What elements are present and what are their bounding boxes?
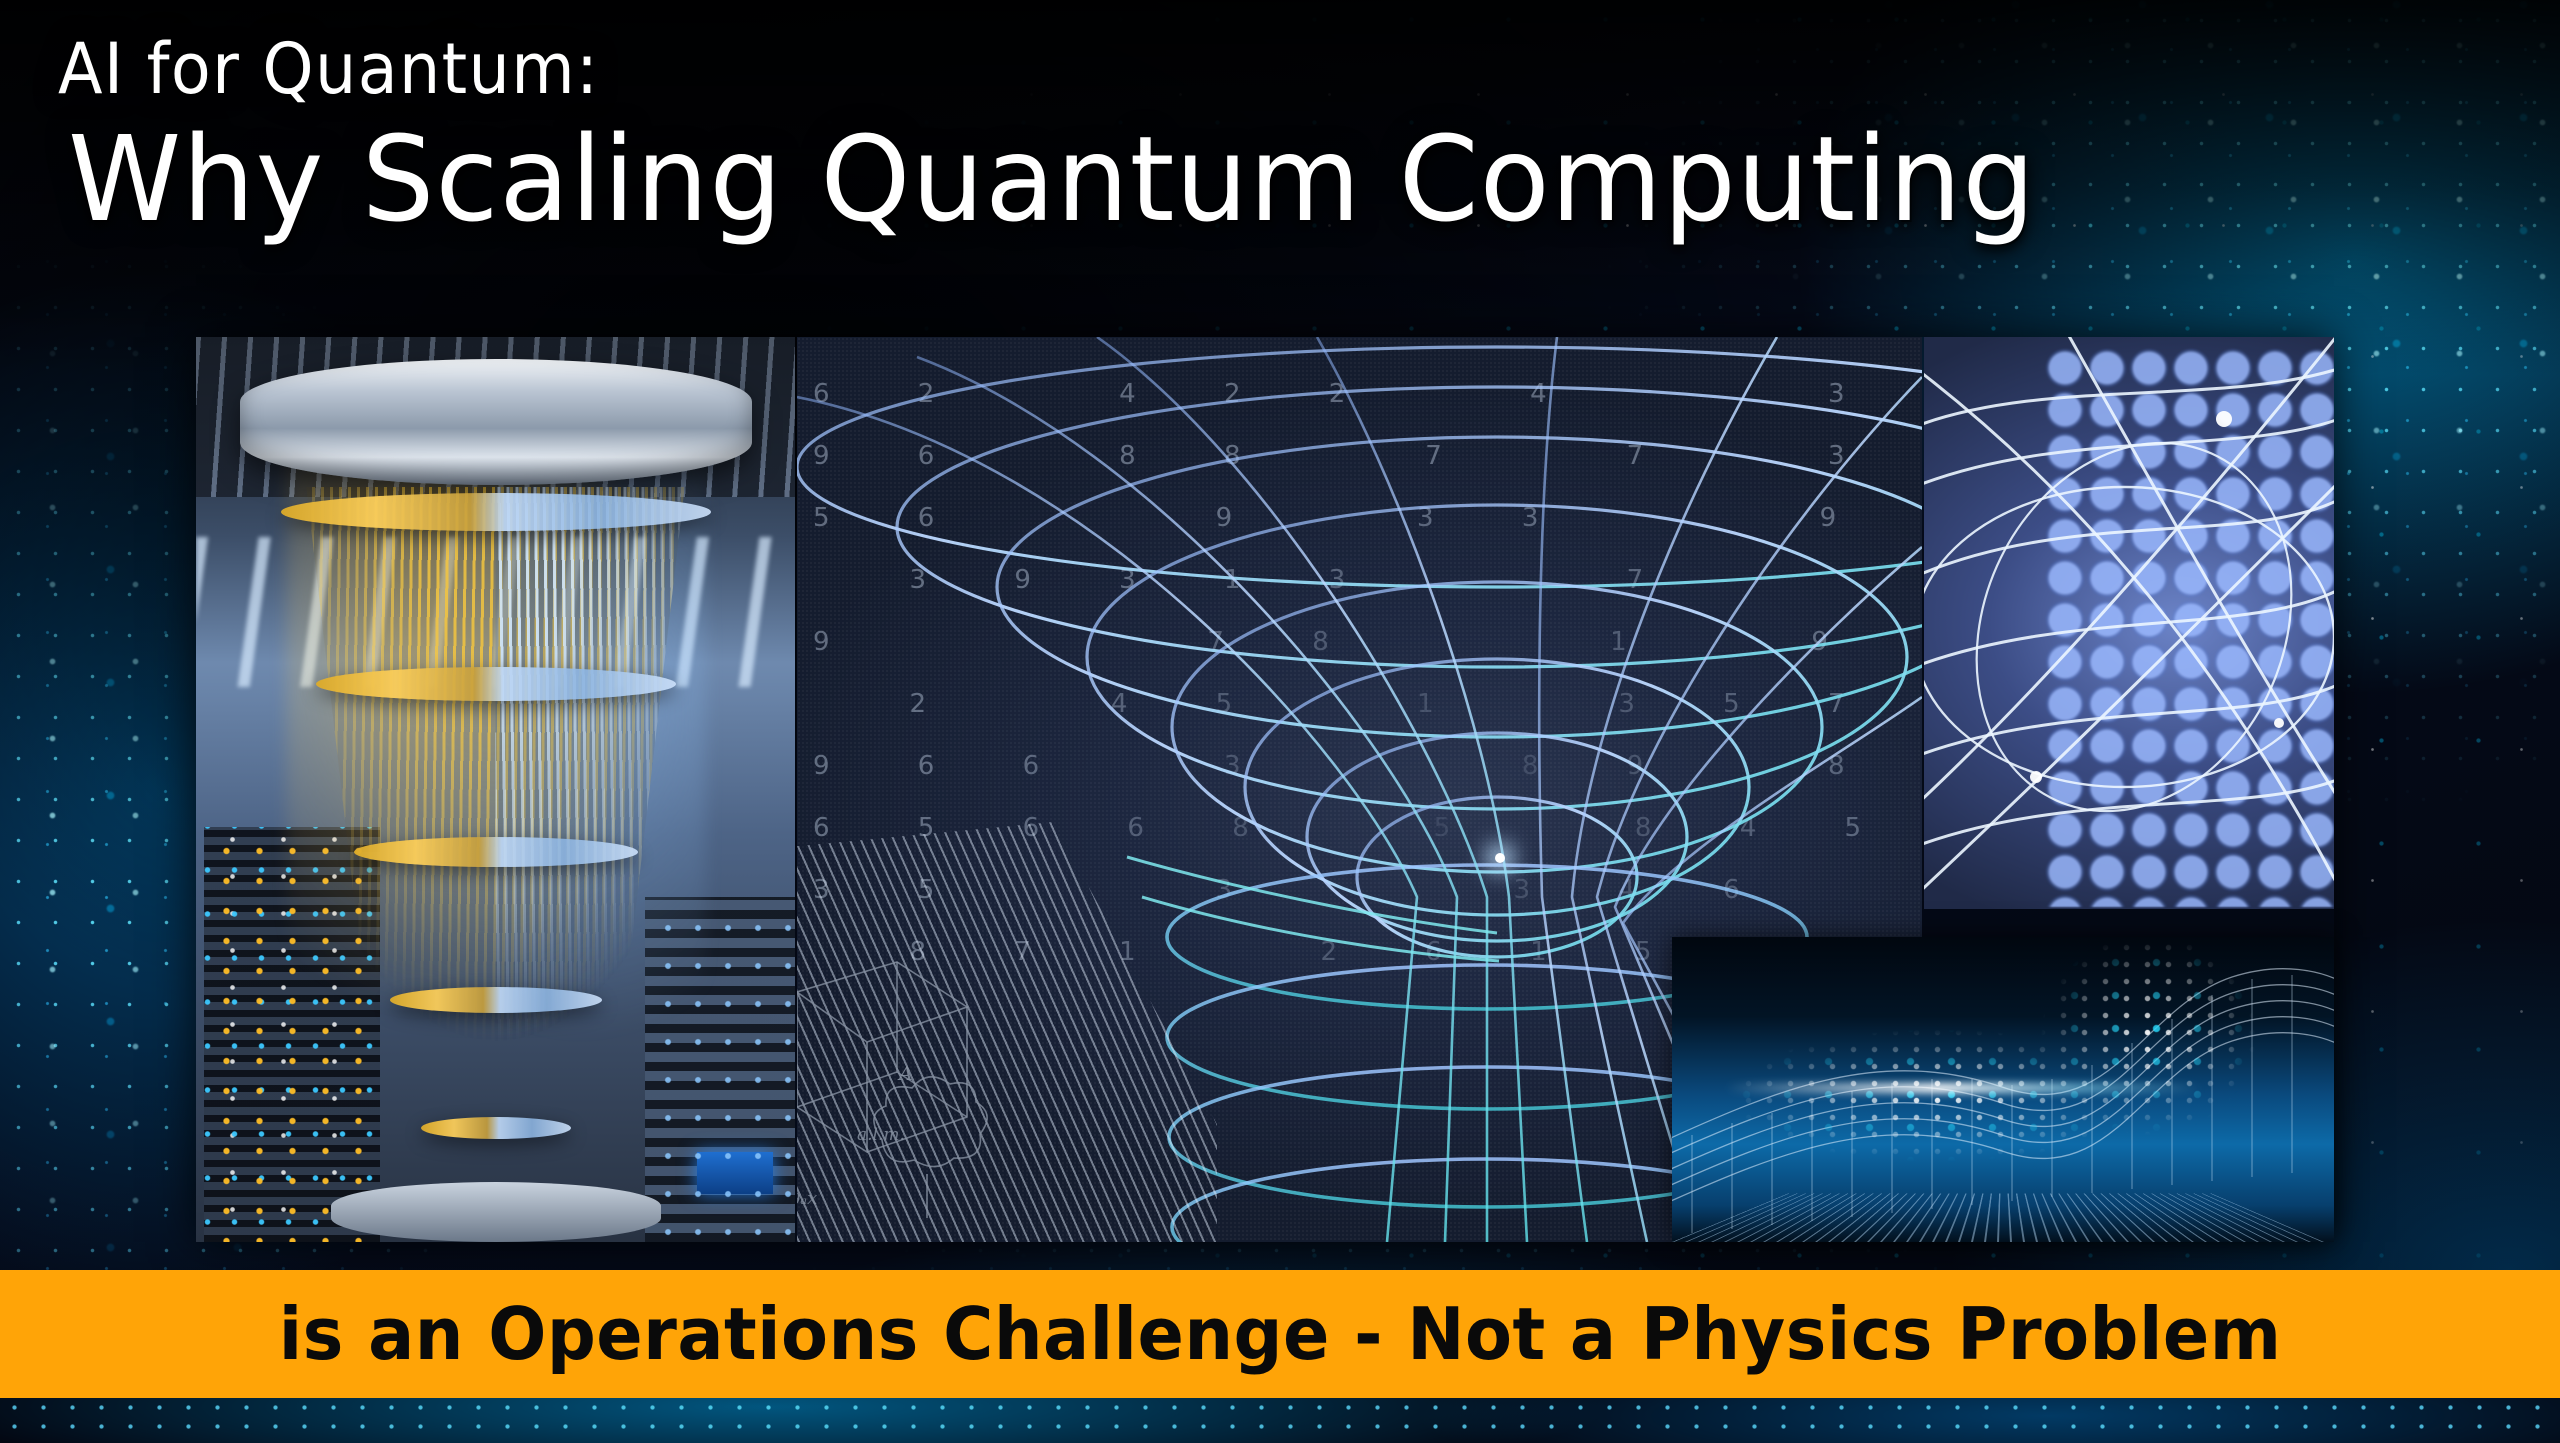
cryostat-stage-3 [354,837,638,867]
cryostat-stage-4 [390,987,602,1013]
cryostat-base-plate [331,1182,661,1242]
particle-wave-mesh [1672,937,2334,1242]
svg-text:∂ₐx: ∂ₐx [797,1188,817,1209]
trajectory-lines-icon [1924,337,2334,909]
bottom-background-strip [0,1398,2560,1443]
wave-core-glow [1725,1083,2202,1093]
vortex-light-point [1495,853,1505,863]
dilution-refrigerator-photo [196,337,795,1242]
cryostat-top-plate [240,359,752,485]
cryostat-stage-2 [316,667,676,701]
blueprint-sketch-icon: A a.l.m. ∂ₐx [797,822,1217,1242]
qubit-lattice [1924,337,2334,909]
cryostat-stage-1 [281,493,711,531]
rack-monitor-screen [697,1152,773,1194]
cryostat-stage-5 [421,1117,571,1139]
image-collage: 6 2 4 2 2 4 3 9 6 8 8 7 7 3 8 5 6 9 3 3 … [196,337,2334,1242]
quantum-article-banner: AI for Quantum: Why Scaling Quantum Comp… [0,0,2560,1443]
subtitle-text: is an Operations Challenge - Not a Physi… [279,1292,2282,1376]
subtitle-banner: is an Operations Challenge - Not a Physi… [0,1270,2560,1398]
handwritten-notes-overlay: A a.l.m. ∂ₐx [797,822,1217,1242]
svg-text:A: A [897,1063,913,1085]
svg-text:a.l.m.: a.l.m. [857,1125,905,1145]
